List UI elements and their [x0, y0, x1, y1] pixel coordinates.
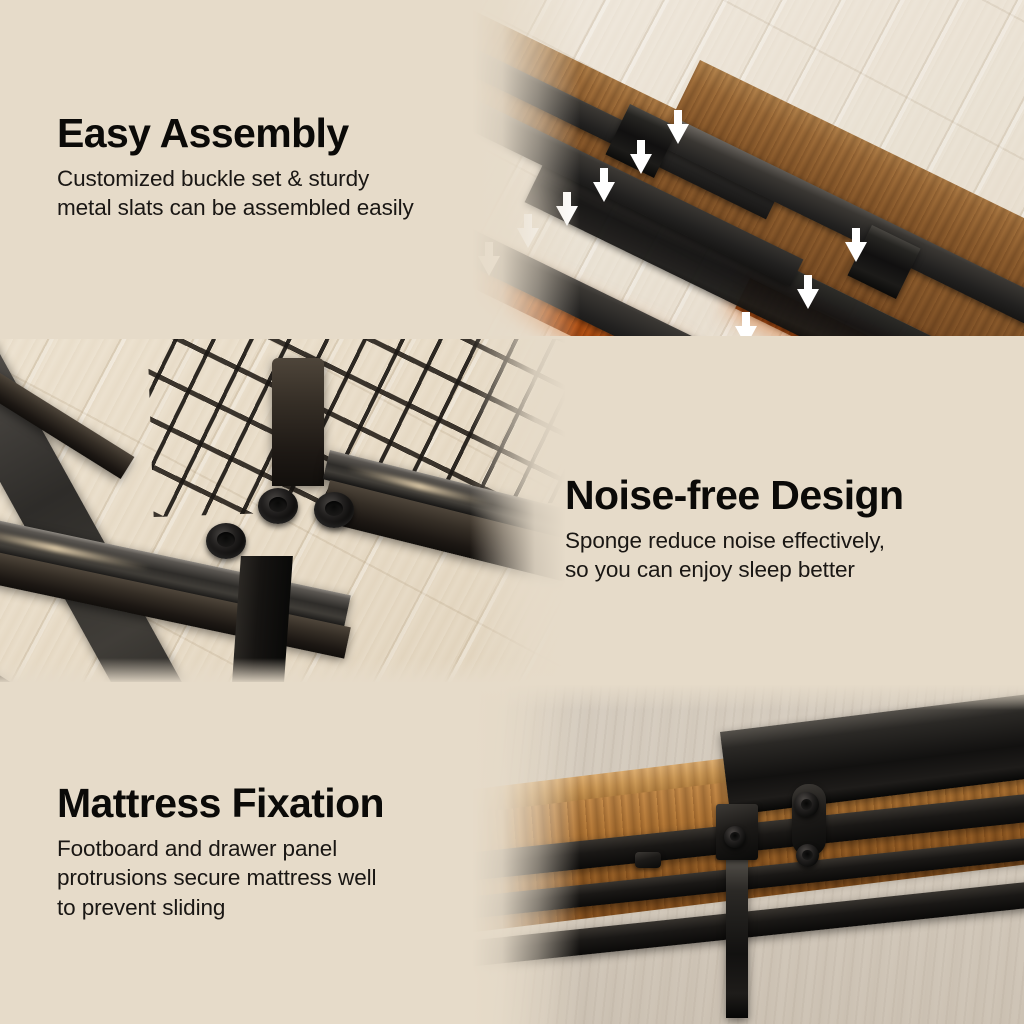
panel-divider-2 — [0, 682, 1024, 685]
subtitle-line: to prevent sliding — [57, 893, 384, 922]
sponge-bumper-right — [314, 492, 354, 528]
feature-text-easy-assembly: Easy Assembly Customized buckle set & st… — [57, 112, 414, 223]
panel-title-mattress-fixation: Mattress Fixation — [57, 782, 384, 825]
center-support-plate — [272, 358, 324, 486]
panel-title-easy-assembly: Easy Assembly — [57, 112, 414, 155]
sponge-bumper-left — [206, 523, 246, 559]
feature-panel-easy-assembly: Easy Assembly Customized buckle set & st… — [0, 0, 1024, 338]
assembly-arrow-icon — [667, 110, 689, 144]
photo-fade-bottom — [0, 658, 600, 684]
sponge-bumper-center — [258, 488, 298, 524]
assembly-arrow-icon — [845, 228, 867, 262]
assembly-arrow-icon — [593, 168, 615, 202]
panel-title-noise-free-design: Noise-free Design — [565, 474, 903, 517]
bolt-knob-lower — [796, 844, 819, 867]
feature-text-mattress-fixation: Mattress Fixation Footboard and drawer p… — [57, 782, 384, 922]
photo-noise-free-design — [0, 338, 600, 684]
subtitle-line: Sponge reduce noise effectively, — [565, 526, 903, 555]
photo-easy-assembly — [430, 0, 1024, 338]
panel-subtitle-mattress-fixation: Footboard and drawer panel protrusions s… — [57, 834, 384, 922]
panel-subtitle-easy-assembly: Customized buckle set & sturdy metal sla… — [57, 164, 414, 223]
photo-fade-left — [430, 0, 580, 338]
subtitle-line: protrusions secure mattress well — [57, 863, 384, 892]
photo-fade-top — [430, 684, 1024, 710]
feature-panel-mattress-fixation: Mattress Fixation Footboard and drawer p… — [0, 684, 1024, 1024]
feature-panel-noise-free-design: Noise-free Design Sponge reduce noise ef… — [0, 338, 1024, 684]
panel-divider-1 — [0, 336, 1024, 339]
product-feature-infographic: Easy Assembly Customized buckle set & st… — [0, 0, 1024, 1024]
assembly-arrow-icon — [735, 312, 757, 338]
subtitle-line: so you can enjoy sleep better — [565, 555, 903, 584]
subtitle-line: Customized buckle set & sturdy — [57, 164, 414, 193]
photo-mattress-fixation — [430, 684, 1024, 1024]
subtitle-line: Footboard and drawer panel — [57, 834, 384, 863]
assembly-arrow-icon — [630, 140, 652, 174]
bolt-knob-upper — [794, 792, 819, 817]
subtitle-line: metal slats can be assembled easily — [57, 193, 414, 222]
feature-text-noise-free-design: Noise-free Design Sponge reduce noise ef… — [565, 474, 903, 585]
photo-fade-left — [430, 684, 580, 1024]
assembly-arrow-icon — [797, 275, 819, 309]
bolt-knob-bracket — [724, 826, 746, 848]
mattress-stop-tab — [635, 852, 661, 868]
vertical-connector — [726, 858, 748, 1018]
panel-subtitle-noise-free-design: Sponge reduce noise effectively, so you … — [565, 526, 903, 585]
